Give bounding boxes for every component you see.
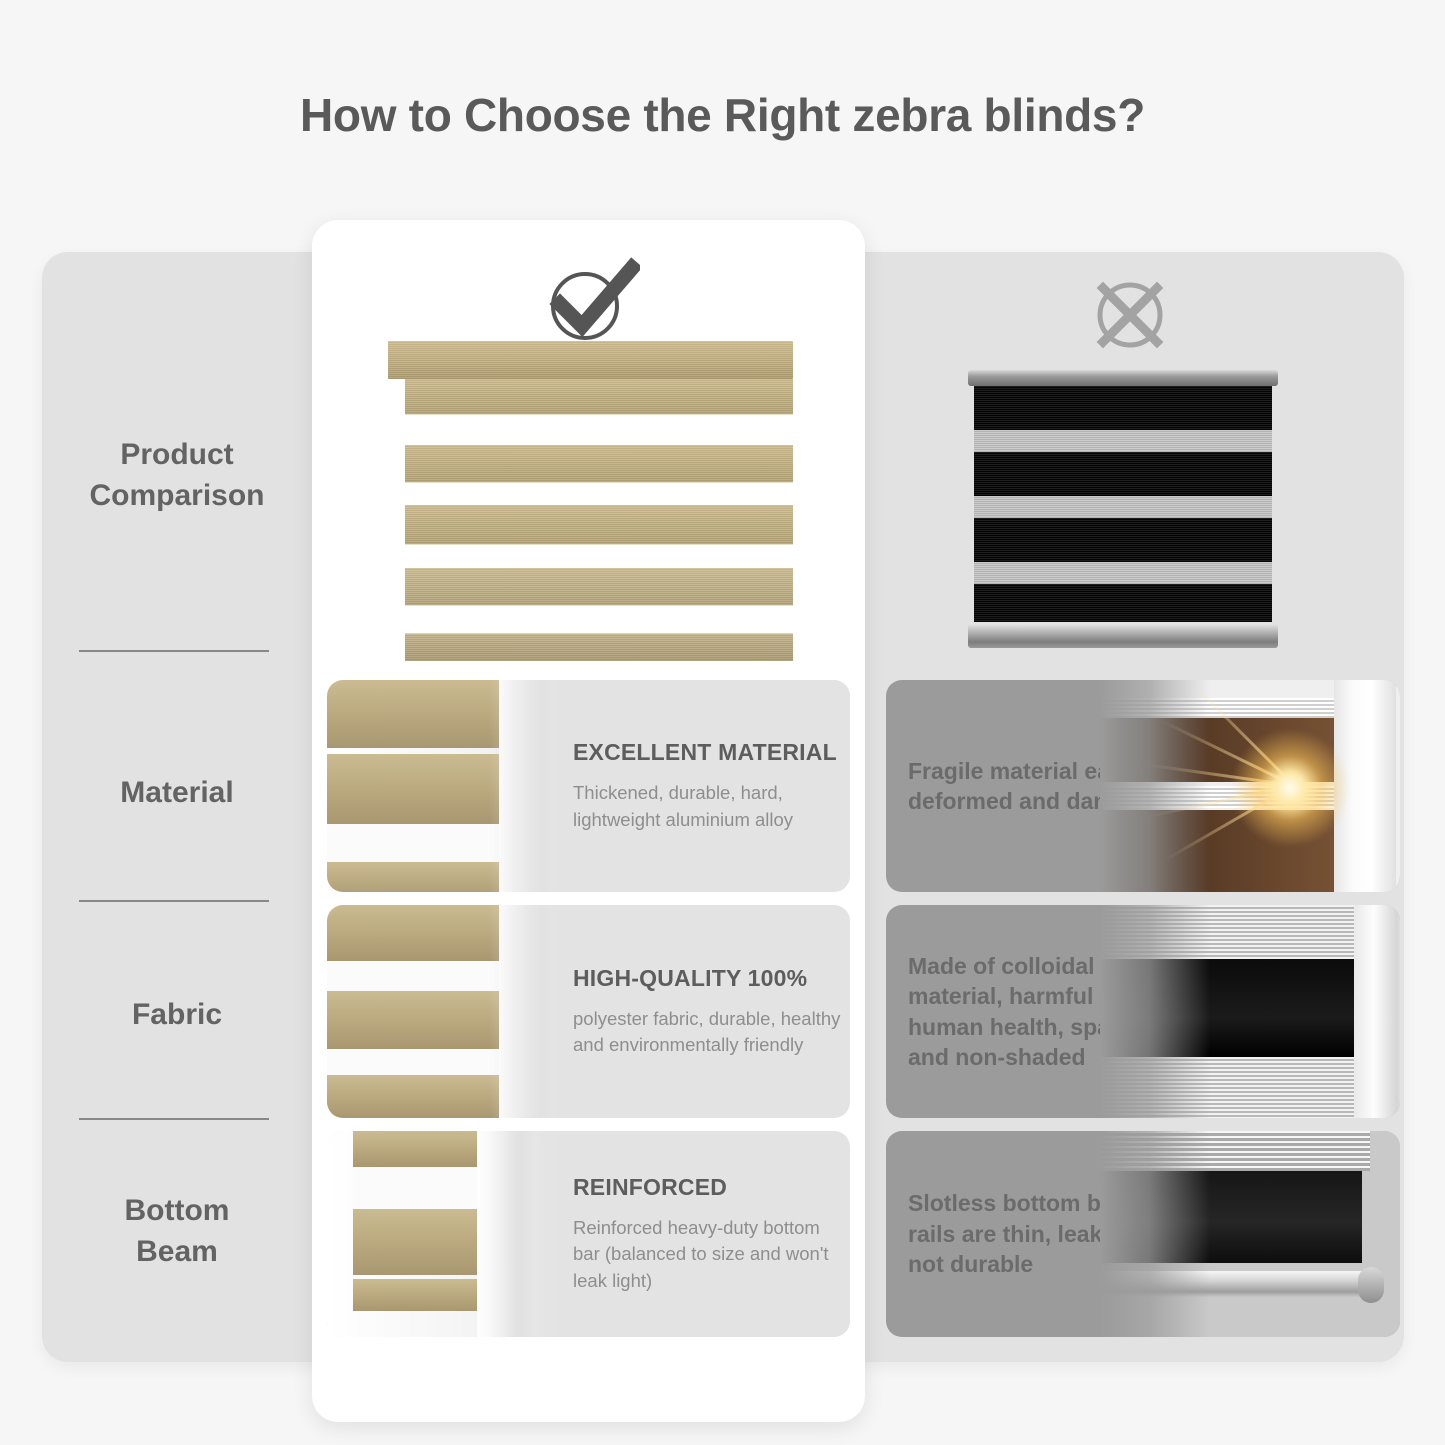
blind-fabric [974,386,1272,622]
card-photo [327,680,559,892]
row-label-product-comparison: Product Comparison [42,434,312,517]
row-label-material: Material [42,772,312,813]
bad-card-material: Fragile material easily deformed and dam… [886,680,1400,892]
row-label-line2: Comparison [89,479,264,512]
page-title: How to Choose the Right zebra blinds? [0,88,1445,142]
good-card-fabric: HIGH-QUALITY 100% polyester fabric, dura… [327,905,850,1118]
row-label-bottom-beam: Bottom Beam [42,1190,312,1273]
card-photo [1100,1131,1400,1337]
check-circle-icon [540,256,640,346]
row-divider-3 [79,1118,269,1120]
row-label-column: Product Comparison Material Fabric Botto… [42,252,312,1362]
blind-bottom-bar [968,624,1278,648]
card-body: Thickened, durable, hard, lightweight al… [573,780,845,833]
bad-card-fabric: Made of colloidal material, harmful to h… [886,905,1400,1118]
good-card-material: EXCELLENT MATERIAL Thickened, durable, h… [327,680,850,892]
blind-headrail [388,341,793,379]
row-label-line1: Product [120,438,233,471]
card-title: HIGH-QUALITY 100% [573,965,845,992]
blind-bottom-bar [405,633,793,661]
blind-slat [405,505,793,545]
sun-glare-icon [1230,728,1350,848]
card-body: polyester fabric, durable, healthy and e… [573,1006,845,1059]
card-title: EXCELLENT MATERIAL [573,739,845,766]
bad-card-bottom-beam: Slotless bottom beam rails are thin, lea… [886,1131,1400,1337]
good-card-bottom-beam: REINFORCED Reinforced heavy-duty bottom … [327,1131,850,1337]
row-label-fabric: Fabric [42,994,312,1035]
blind-slat [405,568,793,606]
hero-image-good-blind [388,341,793,666]
blind-slat [405,379,793,415]
infographic-root: How to Choose the Right zebra blinds? Pr… [0,0,1445,1445]
row-label-line2: Beam [136,1235,218,1268]
card-title: REINFORCED [573,1174,845,1201]
card-text: EXCELLENT MATERIAL Thickened, durable, h… [573,680,845,892]
row-label-line1: Bottom [125,1194,230,1227]
cross-circle-icon [1085,272,1175,358]
row-divider-2 [79,900,269,902]
card-body: Reinforced heavy-duty bottom bar (balanc… [573,1215,845,1294]
row-divider-1 [79,650,269,652]
card-text: HIGH-QUALITY 100% polyester fabric, dura… [573,905,845,1118]
card-photo [1100,680,1400,892]
card-text: REINFORCED Reinforced heavy-duty bottom … [573,1131,845,1337]
blind-slat [405,445,793,483]
row-label-line1: Material [120,776,233,809]
blind-headrail [968,370,1278,386]
card-photo [327,1131,559,1337]
hero-image-bad-blind [968,370,1278,648]
row-label-line1: Fabric [132,998,222,1031]
card-photo [1100,905,1400,1118]
card-photo [327,905,559,1118]
